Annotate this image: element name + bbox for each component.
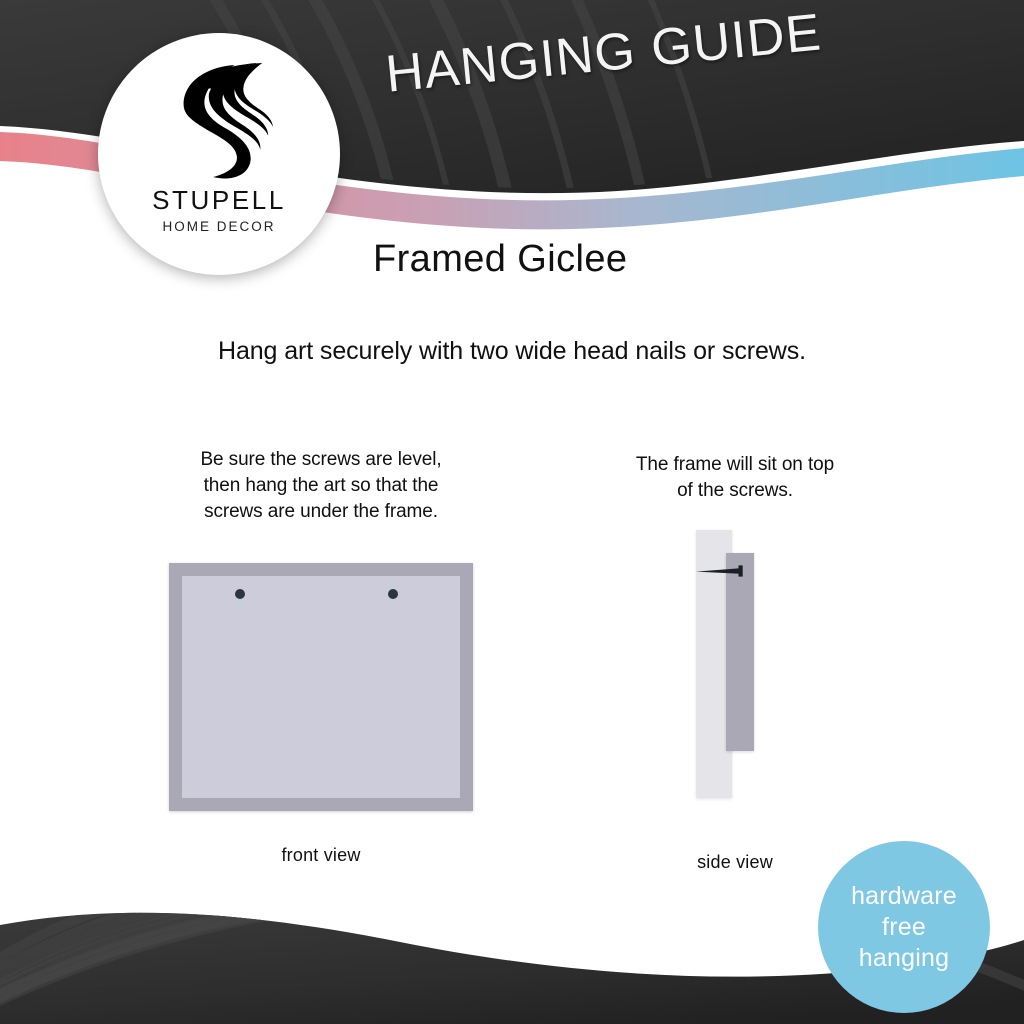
nail-icon bbox=[694, 564, 754, 578]
caption-line: of the screws. bbox=[575, 478, 895, 504]
badge-line: free bbox=[851, 912, 957, 943]
panel-side-view: The frame will sit on top of the screws.… bbox=[575, 452, 895, 873]
badge-line: hardware bbox=[851, 881, 957, 912]
primary-instruction: Hang art securely with two wide head nai… bbox=[0, 337, 1024, 366]
brand-logo-badge: STUPELL HOME DECOR bbox=[98, 33, 340, 275]
caption-line: The frame will sit on top bbox=[575, 452, 895, 478]
caption-line: screws are under the frame. bbox=[140, 499, 502, 525]
front-view-caption: Be sure the screws are level, then hang … bbox=[140, 447, 502, 525]
frame-edge bbox=[726, 553, 754, 751]
panel-front-view: Be sure the screws are level, then hang … bbox=[140, 447, 502, 866]
infographic-canvas: STUPELL HOME DECOR HANGING GUIDE Framed … bbox=[0, 0, 1024, 1024]
front-view-label: front view bbox=[140, 845, 502, 866]
stupell-swoosh-icon bbox=[160, 61, 278, 181]
badge-text: hardware free hanging bbox=[851, 881, 957, 974]
caption-line: then hang the art so that the bbox=[140, 473, 502, 499]
screw-dot-right bbox=[388, 589, 398, 599]
page-title: HANGING GUIDE bbox=[383, 2, 824, 104]
screw-dot-left bbox=[235, 589, 245, 599]
caption-line: Be sure the screws are level, bbox=[140, 447, 502, 473]
frame-mat-area bbox=[182, 576, 460, 798]
logo-tagline: HOME DECOR bbox=[162, 219, 275, 234]
side-view-caption: The frame will sit on top of the screws. bbox=[575, 452, 895, 504]
badge-line: hanging bbox=[851, 943, 957, 974]
hardware-free-badge: hardware free hanging bbox=[818, 841, 990, 1013]
framed-art-side-illustration bbox=[680, 530, 790, 808]
framed-art-front-illustration bbox=[169, 563, 473, 811]
product-type-title: Framed Giclee bbox=[373, 238, 627, 281]
logo-wordmark: STUPELL bbox=[152, 185, 286, 216]
